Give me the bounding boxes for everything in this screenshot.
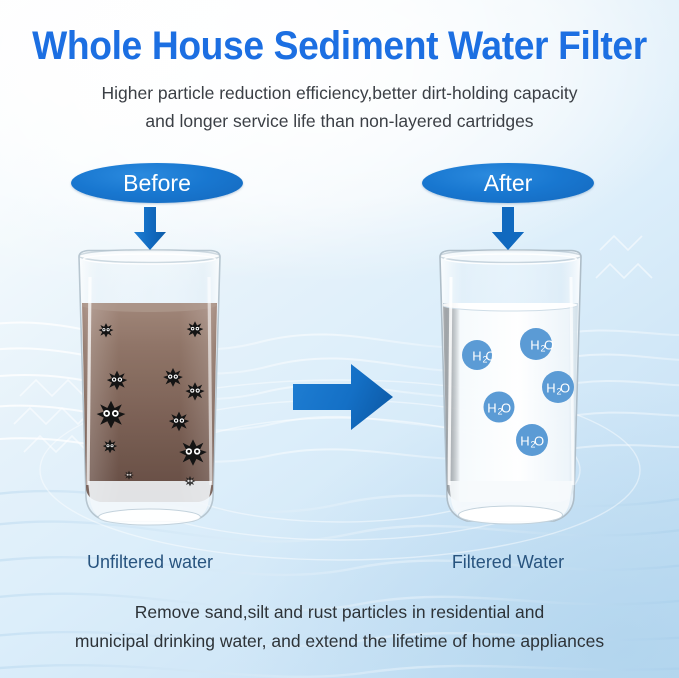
subtitle-line-1: Higher particle reduction efficiency,bet… [0,79,679,107]
h2o-molecule: H 2 O [516,424,548,456]
poster-canvas: Whole House Sediment Water Filter Higher… [0,0,679,678]
footer-line-1: Remove sand,silt and rust particles in r… [0,598,679,627]
h2o-molecule: H 2 O [542,371,574,403]
arrow-right-icon [291,362,395,432]
svg-text:H: H [546,381,555,396]
footer-text: Remove sand,silt and rust particles in r… [0,598,679,656]
svg-text:O: O [534,434,544,449]
badge-before: Before [71,163,243,203]
svg-text:O: O [560,381,570,396]
arrow-down-icon [491,207,525,251]
svg-text:H: H [472,349,481,364]
caption-filtered: Filtered Water [388,552,628,573]
svg-text:H: H [530,338,539,353]
h2o-molecule: H 2 O [484,392,515,423]
svg-text:O: O [544,338,554,353]
svg-text:O: O [485,349,495,364]
footer-line-2: municipal drinking water, and extend the… [0,627,679,656]
arrow-down-icon [133,207,167,251]
svg-text:H: H [520,434,529,449]
svg-text:H: H [487,401,496,416]
subtitle-text: Higher particle reduction efficiency,bet… [0,79,679,135]
badge-after: After [422,163,594,203]
subtitle-line-2: and longer service life than non-layered… [0,107,679,135]
glass-filtered-water: H 2 O H 2 O H 2 O H [434,249,587,530]
page-title: Whole House Sediment Water Filter [24,24,655,69]
caption-unfiltered: Unfiltered water [30,552,270,573]
glass-unfiltered-water [73,249,226,530]
svg-text:O: O [501,401,511,416]
